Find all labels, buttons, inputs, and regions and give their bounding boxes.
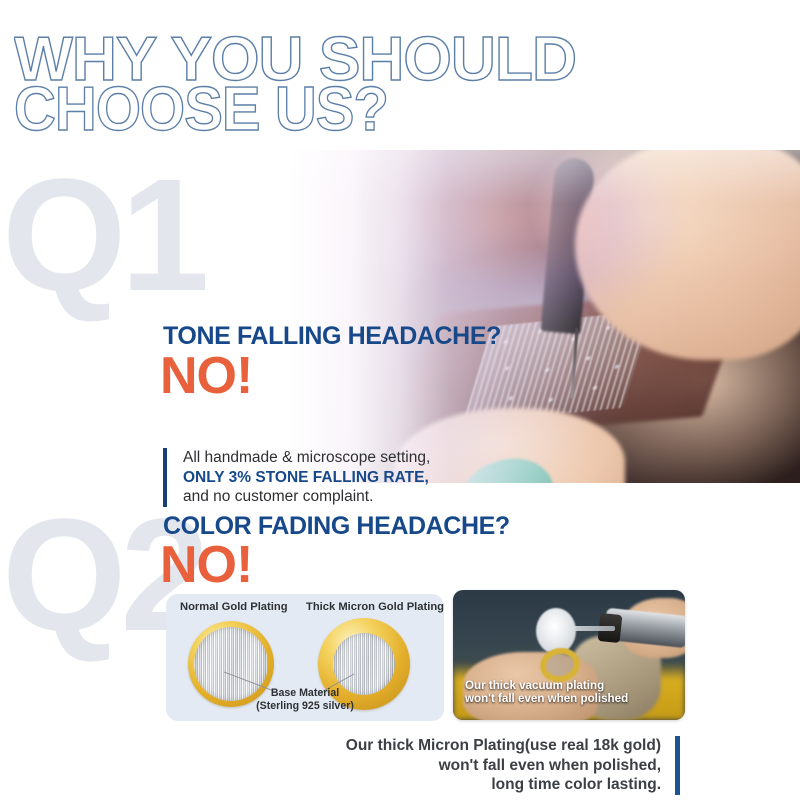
q1-body-block: All handmade & microscope setting, ONLY …	[163, 448, 430, 507]
q2-bottom-block: Our thick Micron Plating(use real 18k go…	[330, 736, 680, 795]
polish-photo-polishing-disc	[536, 608, 576, 654]
plating-comparison-diagram: Normal Gold Plating Thick Micron Gold Pl…	[166, 594, 444, 721]
q1-answer: NO!	[160, 350, 252, 402]
base-material-line-1: Base Material	[166, 687, 444, 700]
base-material-label: Base Material (Sterling 925 silver)	[166, 687, 444, 713]
q1-accent-bar	[163, 448, 167, 507]
section-q1: Q1 TONE FALLING HEADACHE? NO! All handma…	[0, 150, 800, 490]
watermark-q1: Q1	[2, 160, 203, 310]
q2-bottom-text: Our thick Micron Plating(use real 18k go…	[330, 736, 675, 795]
q2-bottom-line-1: Our thick Micron Plating(use real 18k go…	[330, 736, 661, 756]
q1-body-line-1: All handmade & microscope setting,	[183, 448, 430, 468]
q1-body-line-3: and no customer complaint.	[183, 487, 430, 507]
polish-caption-line-1: Our thick vacuum plating	[465, 679, 628, 693]
label-thick-micron-gold-plating: Thick Micron Gold Plating	[306, 601, 444, 613]
coin-thick-base-material	[333, 633, 395, 695]
page-title-line-2: CHOOSE US?	[14, 75, 388, 136]
q2-bottom-line-2: won't fall even when polished,	[330, 756, 661, 776]
q1-body-line-2-emphasis: ONLY 3% STONE FALLING RATE,	[183, 468, 430, 488]
q2-accent-bar	[675, 736, 680, 795]
q2-answer: NO!	[160, 539, 252, 591]
base-material-line-2: (Sterling 925 silver)	[166, 700, 444, 713]
polish-photo-caption: Our thick vacuum plating won't fall even…	[465, 679, 628, 706]
polish-caption-line-2: won't fall even when polished	[465, 692, 628, 706]
label-normal-gold-plating: Normal Gold Plating	[180, 601, 288, 613]
q2-bottom-line-3: long time color lasting.	[330, 775, 661, 795]
q2-polishing-photo: Our thick vacuum plating won't fall even…	[453, 590, 685, 720]
polish-photo-shaft	[571, 626, 615, 631]
q1-body-text: All handmade & microscope setting, ONLY …	[183, 448, 430, 507]
page-title: WHY YOU SHOULD CHOOSE US?	[14, 30, 714, 136]
